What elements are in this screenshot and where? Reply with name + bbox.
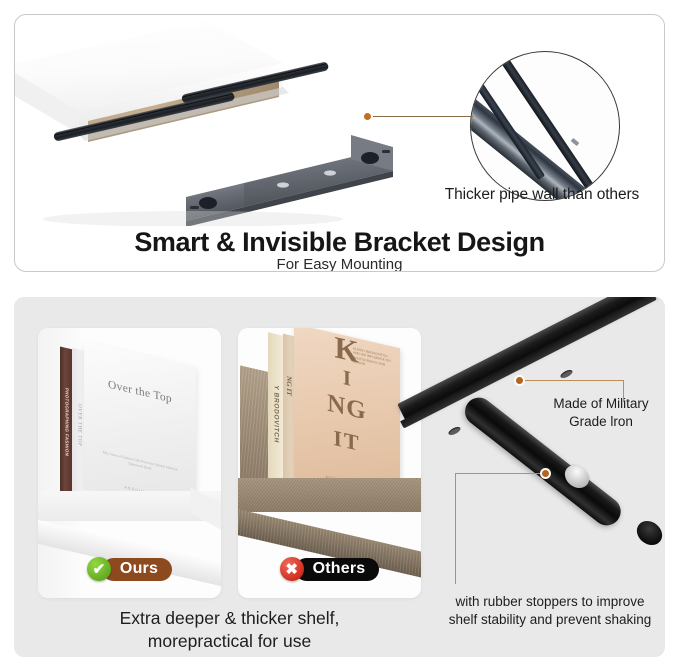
others-photo-card: Y BRODOVITCH NG IT K I NG IT ALEXEY BROD… (238, 328, 421, 598)
book-cover-over-the-top: Over the Top Fifty Years of Fashion Gift… (84, 341, 196, 515)
callout-line-rubber (455, 473, 541, 474)
page-subtitle: For Easy Mounting (15, 256, 664, 272)
ours-photo-card: PHOTOGRAPHING FASHION ART OVER THE TOP O… (38, 328, 221, 598)
bracket-pipe-end-cap (632, 516, 665, 550)
callout-dot-icon (514, 375, 525, 386)
book-cover-title: Over the Top (84, 373, 196, 411)
floating-shelf-illustration (14, 14, 423, 226)
x-circle-icon: ✖ (280, 557, 304, 581)
page-title: Smart & Invisible Bracket Design (15, 227, 664, 258)
pipe-notch (571, 138, 580, 146)
shelf-caption-line1: Extra deeper & thicker shelf, (26, 607, 433, 630)
rubber-caption-line2: shelf stability and prevent shaking (424, 611, 676, 629)
book-spine-cream-label: Y BRODOVITCH (273, 384, 280, 443)
wood-grain-texture-top (238, 478, 421, 512)
callout-line-rubber-vertical (455, 473, 456, 584)
thicker-pipe-caption: Thicker pipe wall than others (418, 186, 665, 204)
ours-badge-label: Ours (102, 558, 172, 581)
shelf-caption-line2: morepractical for use (26, 630, 433, 653)
ours-badge: ✔ Ours (38, 557, 221, 581)
check-circle-icon: ✔ (87, 557, 111, 581)
book-spine-white-label: OVER THE TOP (77, 403, 82, 446)
bracket-screw-hole (447, 425, 461, 436)
book-spine-brown-label: PHOTOGRAPHING FASHION (64, 387, 69, 456)
callout-dot-icon (540, 468, 551, 479)
shelf-comparison-caption: Extra deeper & thicker shelf, morepracti… (26, 607, 433, 653)
magnifier-circle-icon (470, 51, 620, 201)
military-grade-caption: Made of Military Grade lron (528, 395, 674, 431)
bracket-screw-hole (559, 368, 573, 379)
others-badge: ✖ Others (238, 557, 421, 581)
callout-dot-icon (362, 111, 373, 122)
military-caption-line1: Made of Military (528, 395, 674, 413)
bracket-closeup-illustration (418, 297, 665, 597)
rubber-caption-line1: with rubber stoppers to improve (424, 593, 676, 611)
wood-shelf-top-face (238, 478, 421, 512)
military-caption-line2: Grade lron (528, 413, 674, 431)
bracket-design-panel: Thicker pipe wall than others Smart & In… (14, 14, 665, 272)
callout-line-military (524, 380, 624, 381)
callout-line (369, 116, 473, 117)
rubber-stopper-caption: with rubber stoppers to improve shelf st… (424, 593, 676, 629)
book-cover-subtitle: Fifty Years of Fashion Gifts From the No… (98, 449, 182, 478)
others-badge-label: Others (295, 558, 380, 581)
book-spine-cream: Y BRODOVITCH (268, 332, 284, 496)
book-spine-tan-label: NG IT (285, 375, 293, 397)
